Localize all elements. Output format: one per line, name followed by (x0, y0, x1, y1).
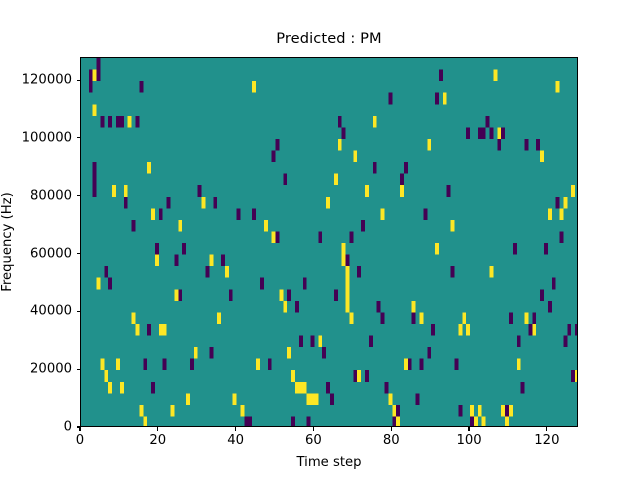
x-tick-mark (546, 427, 547, 431)
x-tick-label: 40 (227, 433, 244, 448)
y-tick-label: 40000 (6, 304, 72, 319)
x-tick-mark (313, 427, 314, 431)
y-axis-label: Frequency (Hz) (0, 192, 15, 291)
y-tick-label: 100000 (6, 130, 72, 145)
y-tick-label: 20000 (6, 362, 72, 377)
y-tick-label: 60000 (6, 246, 72, 261)
x-tick-label: 120 (534, 433, 559, 448)
chart-title: Predicted : PM (80, 30, 578, 47)
heatmap-plot-area (80, 57, 578, 427)
x-tick-label: 60 (305, 433, 322, 448)
matplotlib-figure: Predicted : PM Frequency (Hz) 0200004000… (0, 0, 640, 480)
x-tick-label: 20 (149, 433, 166, 448)
heatmap-image (81, 58, 578, 427)
x-tick-label: 100 (456, 433, 481, 448)
x-tick-mark (468, 427, 469, 431)
x-tick-mark (235, 427, 236, 431)
x-tick-label: 0 (76, 433, 84, 448)
y-tick-label: 80000 (6, 188, 72, 203)
x-tick-mark (157, 427, 158, 431)
y-tick-label: 0 (6, 420, 72, 435)
y-tick-label: 120000 (6, 73, 72, 88)
x-tick-label: 80 (383, 433, 400, 448)
x-tick-mark (391, 427, 392, 431)
x-tick-mark (79, 427, 80, 431)
x-axis-label: Time step (80, 455, 578, 470)
